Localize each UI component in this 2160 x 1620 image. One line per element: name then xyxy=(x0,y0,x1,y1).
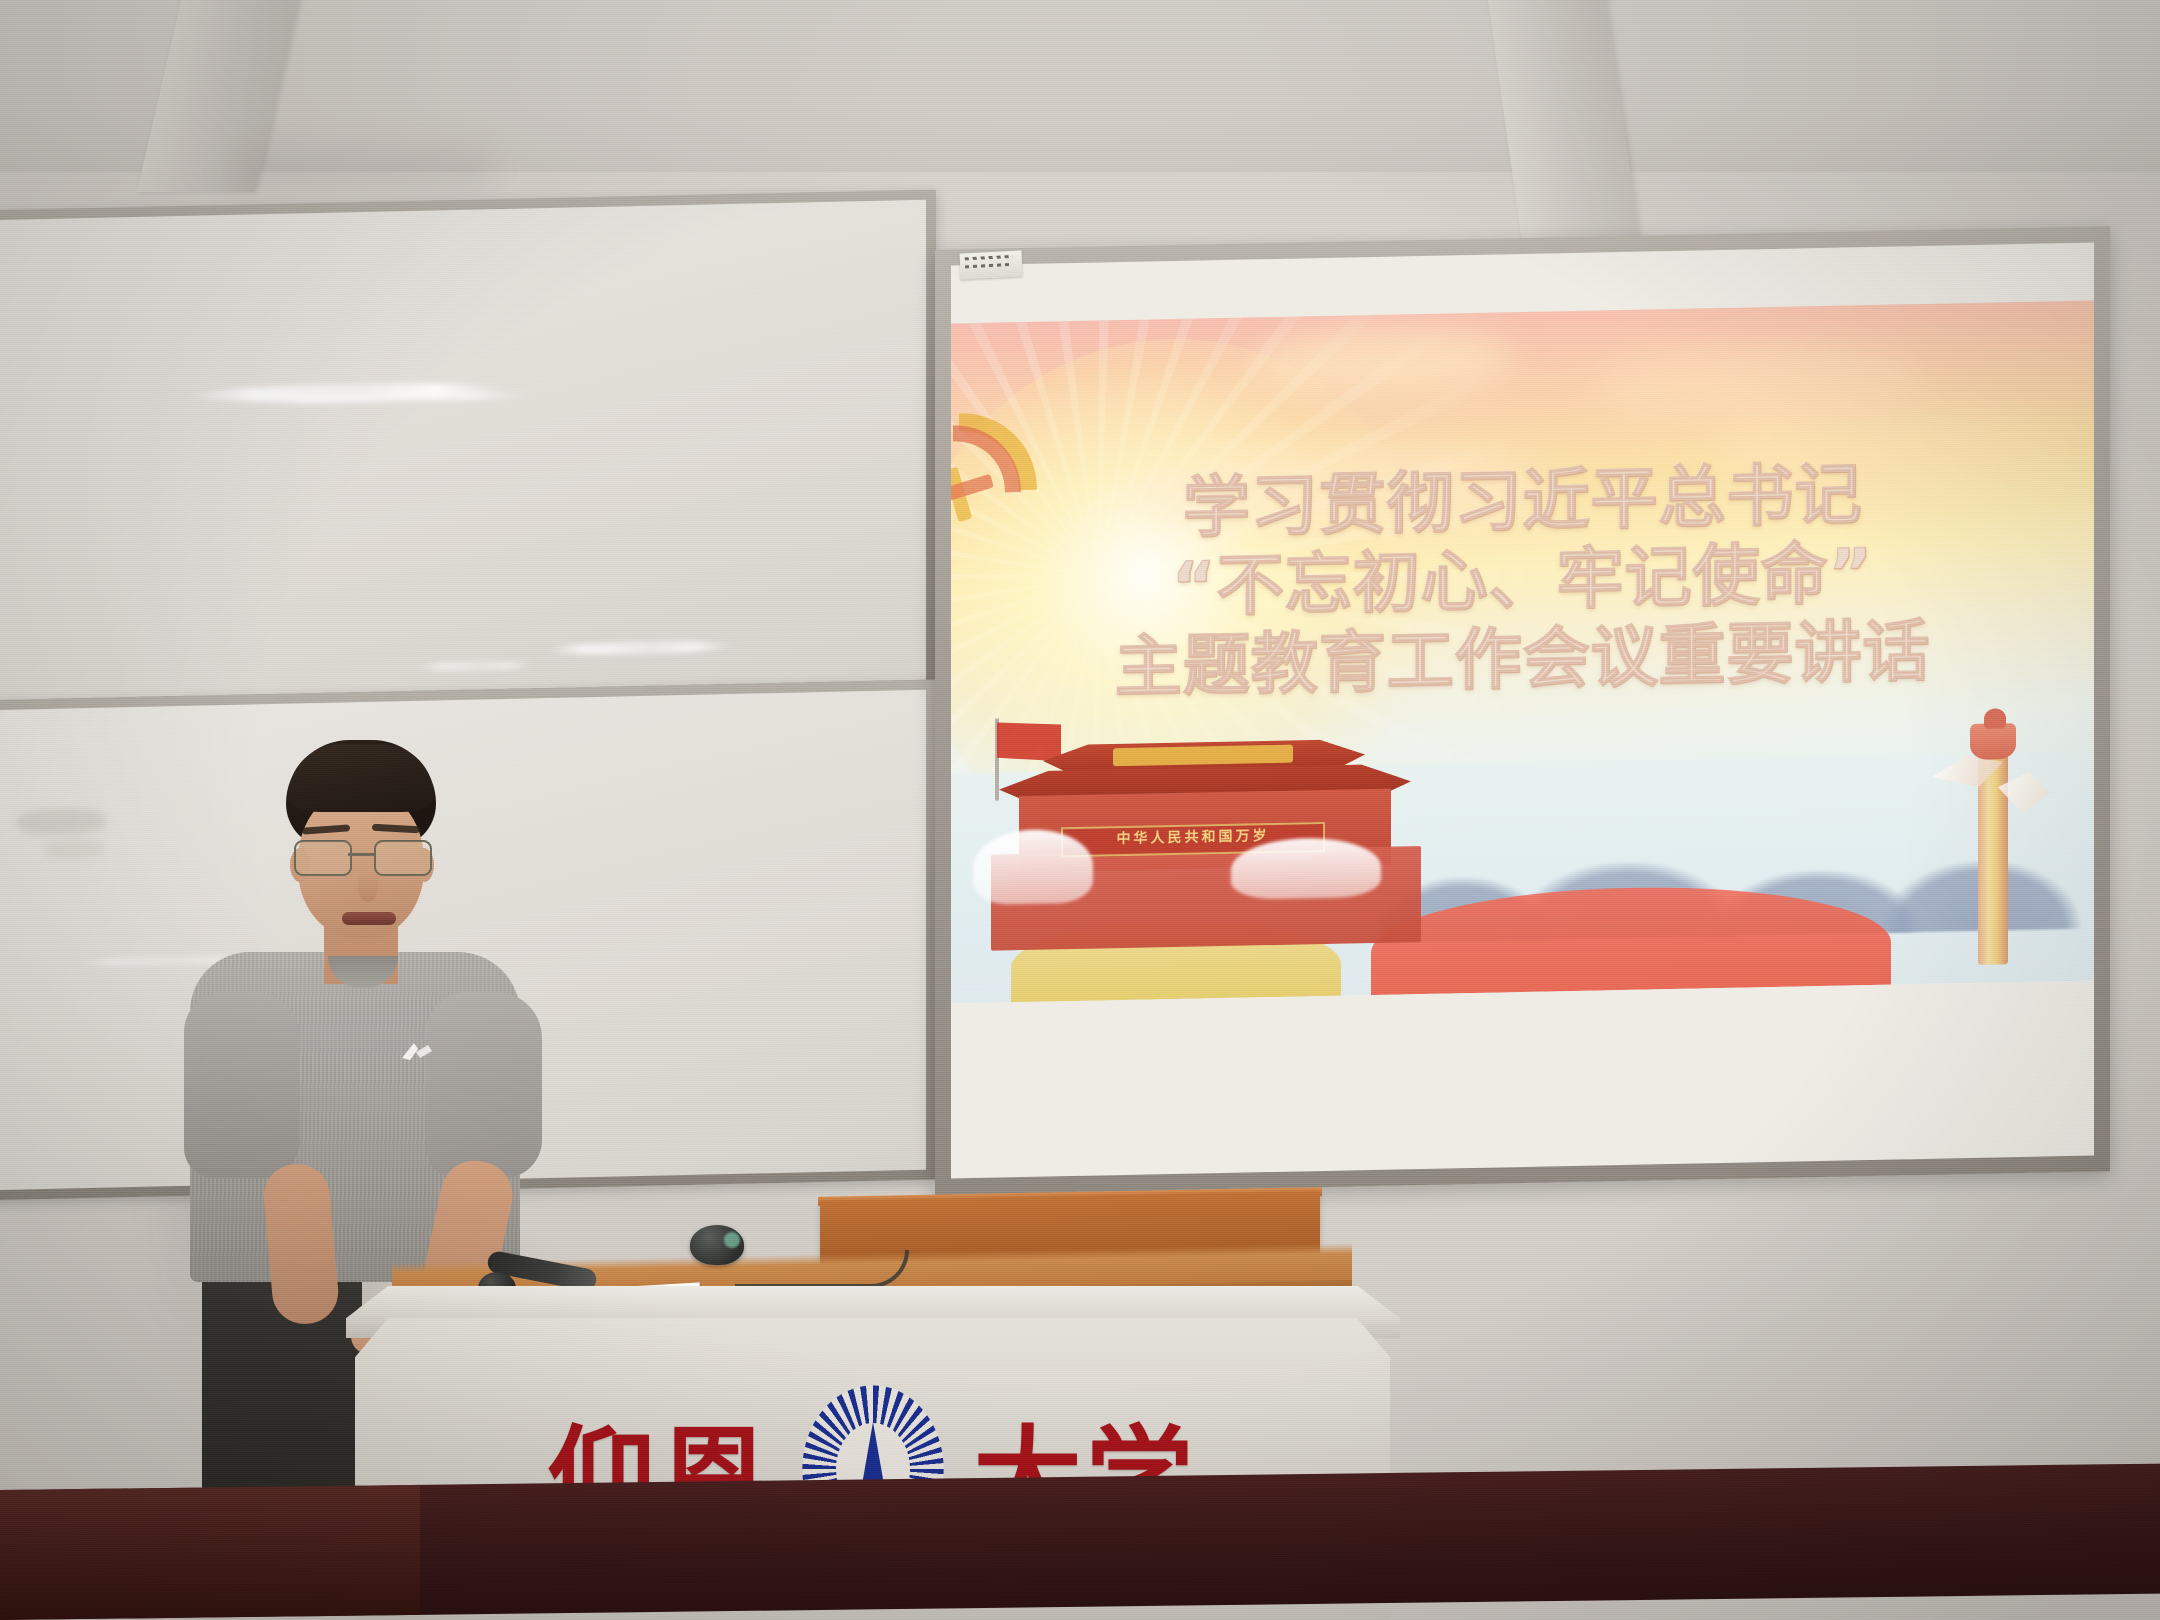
tiananmen-gate-illustration: 中华人民共和国万岁 xyxy=(991,727,1421,951)
presenter-sleeve-right xyxy=(426,992,542,1178)
fountain-left xyxy=(973,829,1093,905)
microphone-cable xyxy=(735,1250,909,1288)
whiteboard-upper-panel xyxy=(0,190,936,711)
whiteboard-smudge-2 xyxy=(44,840,104,859)
projection-screen-frame: 学习贯彻习近平总书记 “不忘初心、牢记使命” 主题教育工作会议重要讲话 xyxy=(935,226,2110,1195)
presenter-hair-front xyxy=(288,744,434,812)
cloud-4 xyxy=(1711,411,2071,496)
presenter-nose xyxy=(358,872,378,902)
beam-shadow-left xyxy=(230,150,490,190)
whiteboard-smudge-1 xyxy=(16,808,106,836)
presenter-sleeve-left xyxy=(184,992,300,1178)
inventory-label-sticker xyxy=(960,250,1023,279)
screenshot-root: 学习贯彻习近平总书记 “不忘初心、牢记使命” 主题教育工作会议重要讲话 xyxy=(0,0,2160,1620)
red-flag-icon xyxy=(997,721,1061,762)
table-microphone-highlight xyxy=(724,1232,740,1248)
huabiao-column-illustration xyxy=(1966,694,2022,965)
eyeglasses-icon xyxy=(294,840,430,874)
projection-screen-surface: 学习贯彻习近平总书记 “不忘初心、牢记使命” 主题教育工作会议重要讲话 xyxy=(951,243,2094,1179)
cpc-party-emblem-icon xyxy=(951,399,1057,529)
whiteboard-glare-3 xyxy=(546,640,736,656)
whiteboard-glare-4 xyxy=(416,660,536,672)
baseboard-left xyxy=(0,1485,420,1620)
gate-gold-ridge xyxy=(1113,745,1293,767)
huabiao-finial xyxy=(1984,708,2006,728)
lens-left xyxy=(294,840,352,876)
whiteboard-upper-surface xyxy=(0,200,926,701)
lens-right xyxy=(374,840,432,876)
shirt-brand-logo-icon xyxy=(398,1040,440,1062)
presentation-slide: 学习贯彻习近平总书记 “不忘初心、牢记使命” 主题教育工作会议重要讲话 xyxy=(951,301,2094,1004)
huabiao-cap xyxy=(1970,723,2016,760)
cloud-2 xyxy=(1591,344,1921,423)
glasses-bridge xyxy=(348,853,374,856)
ceiling xyxy=(0,0,2160,172)
presenter-mouth xyxy=(342,912,396,925)
